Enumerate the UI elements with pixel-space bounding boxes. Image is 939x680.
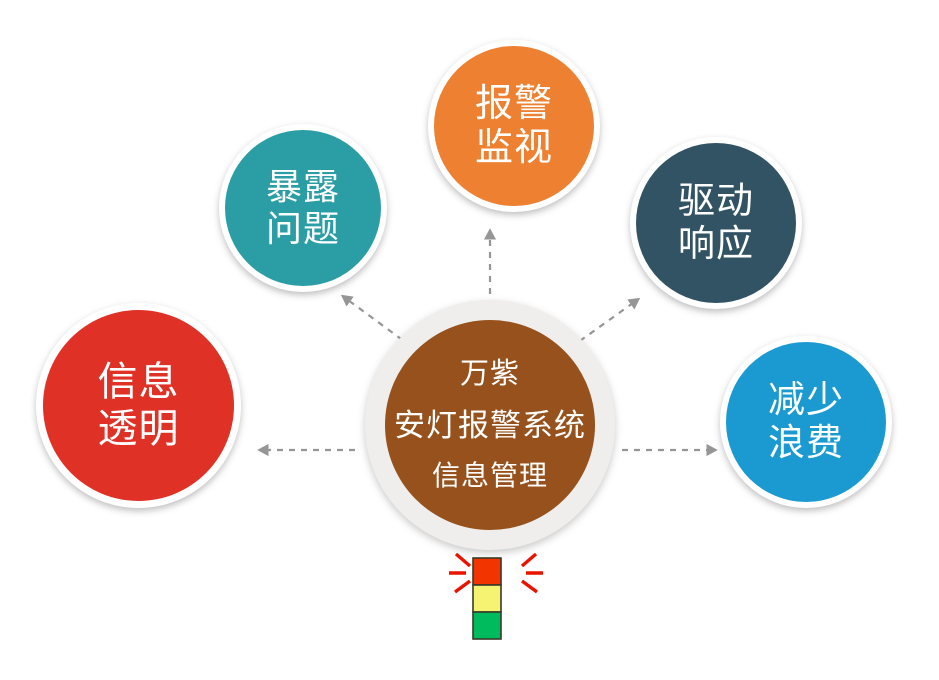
expose-problems-label-line1: 暴露 xyxy=(266,166,340,208)
andon-flash-rays-left xyxy=(449,554,470,592)
center-label-line1: 万紫 xyxy=(460,358,520,392)
reduce-waste-label-line1: 减少 xyxy=(768,379,844,422)
expose-problems-label-line2: 问题 xyxy=(266,208,340,250)
drive-response-node[interactable]: 驱动 响应 xyxy=(636,143,796,303)
andon-flash-rays-right xyxy=(522,554,543,592)
andon-red-lamp xyxy=(473,558,501,585)
center-label-line2: 安灯报警系统 xyxy=(394,408,586,444)
andon-green-lamp xyxy=(473,612,501,639)
information-transparency-node[interactable]: 信息 透明 xyxy=(43,310,234,501)
alarm-monitoring-label-line1: 报警 xyxy=(475,82,553,126)
reduce-waste-label-line2: 浪费 xyxy=(768,422,844,465)
drive-response-label-line2: 响应 xyxy=(678,223,754,266)
expose-problems-node[interactable]: 暴露 问题 xyxy=(225,130,381,286)
alarm-monitoring-node[interactable]: 报警 监视 xyxy=(434,46,594,206)
alarm-monitoring-label-line2: 监视 xyxy=(475,126,553,170)
center-node[interactable]: 万紫 安灯报警系统 信息管理 xyxy=(385,320,595,530)
information-transparency-label-line1: 信息 xyxy=(98,359,180,405)
center-label-line3: 信息管理 xyxy=(432,460,548,492)
information-transparency-label-line2: 透明 xyxy=(98,406,180,452)
reduce-waste-node[interactable]: 减少 浪费 xyxy=(726,342,886,502)
diagram-canvas: 报警 监视 暴露 问题 驱动 响应 信息 透明 减少 浪费 万紫 安灯报警系统 … xyxy=(0,0,939,680)
andon-light-tower xyxy=(448,548,544,648)
andon-yellow-lamp xyxy=(473,585,501,612)
drive-response-label-line1: 驱动 xyxy=(678,180,754,223)
